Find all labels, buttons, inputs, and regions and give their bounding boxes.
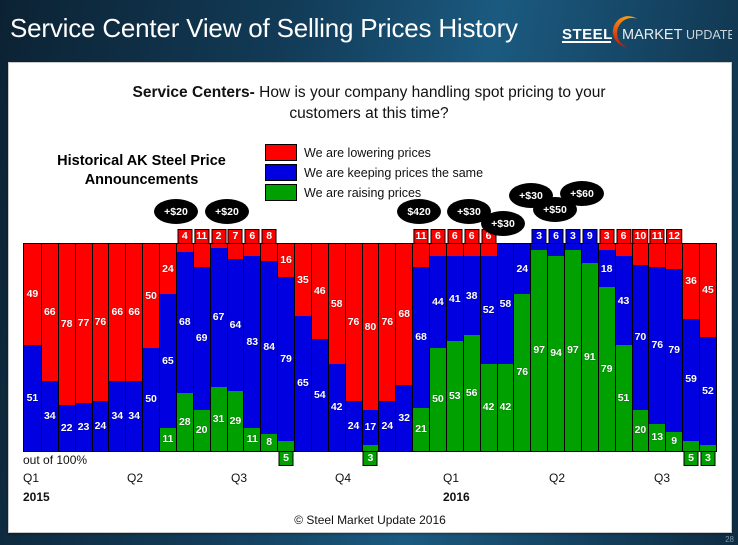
chart-bar: 4951 xyxy=(24,244,41,451)
bar-segment-lowering: 76 xyxy=(93,244,109,401)
segment-value: 11 xyxy=(247,434,258,445)
legend-swatch xyxy=(265,184,297,201)
bar-segment-raising: 79 xyxy=(599,287,615,451)
bar-segment-raising: 9 xyxy=(666,432,682,451)
bar-segment-lowering: 45 xyxy=(700,244,716,337)
bar-segment-lowering: 24 xyxy=(160,244,176,294)
segment-value: 24 xyxy=(95,421,107,432)
bar-segment-lowering: 36 xyxy=(683,244,699,319)
question-rest: How is your company handling spot pricin… xyxy=(255,84,606,122)
segment-value: 42 xyxy=(331,402,343,413)
bar-segment-raising: 5 xyxy=(683,441,699,451)
bar-segment-same: 79 xyxy=(666,269,682,433)
legend-label: We are lowering prices xyxy=(304,146,431,160)
bar-segment-raising: 91 xyxy=(582,263,598,451)
segment-value: 84 xyxy=(263,342,275,353)
chart-bar: 6634 xyxy=(125,244,142,451)
segment-value: 76 xyxy=(348,317,360,328)
bar-segment-same: 58 xyxy=(498,244,514,364)
bar-segment-same: 24 xyxy=(346,401,362,451)
bar-segment-lowering: 50 xyxy=(143,244,159,348)
segment-value-callout: 12 xyxy=(666,229,682,244)
question-lead: Service Centers- xyxy=(133,84,255,101)
bar-segment-raising: 42 xyxy=(481,364,497,451)
bar-segment-same: 59 xyxy=(683,319,699,441)
bar-segment-lowering: 11 xyxy=(413,244,429,267)
chart-bar: 64351 xyxy=(615,244,632,451)
chart-bar: 6634 xyxy=(41,244,58,451)
segment-value: 32 xyxy=(398,413,410,424)
bar-segment-same: 9 xyxy=(582,244,598,263)
segment-value: 51 xyxy=(27,393,39,404)
segment-value-callout: 7 xyxy=(228,229,243,244)
segment-value: 67 xyxy=(213,312,225,323)
chart-bar: 7822 xyxy=(58,244,75,451)
segment-value: 44 xyxy=(432,297,444,308)
axis-quarter-label: Q2 xyxy=(549,471,565,485)
segment-value: 54 xyxy=(314,390,326,401)
chart-bar: 64450 xyxy=(429,244,446,451)
bar-segment-lowering: 7 xyxy=(228,244,244,258)
segment-value-callout: 6 xyxy=(616,229,631,244)
legend-swatch xyxy=(265,144,297,161)
bar-segment-same: 34 xyxy=(42,381,58,451)
svg-text:UPDATE: UPDATE xyxy=(686,28,732,42)
bar-segment-same: 24 xyxy=(514,244,530,294)
bar-segment-same: 79 xyxy=(278,277,294,441)
bar-segment-same: 24 xyxy=(93,401,109,451)
steel-market-update-logo: STEEL MARKET UPDATE xyxy=(560,14,732,52)
segment-value: 66 xyxy=(128,307,140,318)
segment-value: 64 xyxy=(230,320,242,331)
bar-segment-same: 42 xyxy=(329,364,345,451)
legend-swatch xyxy=(265,164,297,181)
chart-bar: 397 xyxy=(530,244,547,451)
segment-value-callout: 5 xyxy=(684,451,699,466)
bar-segment-same: 51 xyxy=(24,345,41,451)
segment-value: 51 xyxy=(618,393,630,404)
chart-bar: 246511 xyxy=(159,244,176,451)
segment-value: 83 xyxy=(246,337,258,348)
slide-header: Service Center View of Selling Prices Hi… xyxy=(0,0,738,62)
bar-segment-lowering: 68 xyxy=(396,244,412,385)
segment-value: 69 xyxy=(196,333,208,344)
bar-segment-same: 83 xyxy=(244,256,260,428)
segment-value: 52 xyxy=(702,386,714,397)
segment-value-callout: 3 xyxy=(532,229,547,244)
bar-segment-lowering: 6 xyxy=(481,244,497,256)
segment-value: 38 xyxy=(466,291,478,302)
chart-bar: 2476 xyxy=(513,244,530,451)
segment-value: 45 xyxy=(702,285,714,296)
question-text: Service Centers- How is your company han… xyxy=(99,83,639,125)
svg-text:STEEL: STEEL xyxy=(562,26,613,43)
bar-segment-lowering: 4 xyxy=(177,244,193,252)
axis-quarter-label: Q1 xyxy=(23,471,39,485)
bar-segment-raising: 97 xyxy=(531,250,547,451)
chart-bar: 45523 xyxy=(699,244,716,451)
segment-value: 80 xyxy=(365,322,377,333)
axis-quarter-label: Q2 xyxy=(127,471,143,485)
bar-segment-raising: 3 xyxy=(700,445,716,451)
price-announcement-bubble: $420 xyxy=(397,199,441,224)
slide-canvas: Service Centers- How is your company han… xyxy=(8,62,732,533)
bar-segment-lowering: 66 xyxy=(42,244,58,381)
chart-bar: 694 xyxy=(547,244,564,451)
segment-value: 34 xyxy=(111,411,123,422)
stacked-bar-chart: 4951663478227723762466346634505024651146… xyxy=(23,243,717,452)
segment-value: 24 xyxy=(348,421,360,432)
chart-bar: 16795 xyxy=(277,244,294,451)
segment-value: 78 xyxy=(61,319,73,330)
segment-value: 42 xyxy=(500,402,512,413)
chart-legend: We are lowering pricesWe are keeping pri… xyxy=(265,144,483,204)
bar-segment-same: 54 xyxy=(312,339,328,451)
bar-segment-same: 65 xyxy=(295,316,311,451)
legend-label: We are raising prices xyxy=(304,186,421,200)
bar-segment-raising: 11 xyxy=(244,428,260,451)
bar-segment-same: 34 xyxy=(109,381,125,451)
segment-value-callout: 3 xyxy=(363,451,378,466)
bar-segment-raising: 28 xyxy=(177,393,193,451)
bar-segment-same: 43 xyxy=(616,256,632,345)
bar-segment-same: 32 xyxy=(396,385,412,451)
axis-year-label: 2015 xyxy=(23,490,50,504)
price-announcement-bubble: +$60 xyxy=(560,181,604,206)
bar-segment-lowering: 10 xyxy=(633,244,649,265)
segment-value: 68 xyxy=(415,332,427,343)
segment-value-callout: 9 xyxy=(582,229,597,244)
chart-bar: 7723 xyxy=(75,244,92,451)
bar-segment-same: 24 xyxy=(379,401,395,451)
bar-segment-same: 64 xyxy=(228,259,244,391)
legend-label: We are keeping prices the same xyxy=(304,166,483,180)
bar-segment-lowering: 16 xyxy=(278,244,294,277)
segment-value: 97 xyxy=(533,345,545,356)
segment-value: 21 xyxy=(415,424,427,435)
chart-bar: 63856 xyxy=(463,244,480,451)
segment-value: 52 xyxy=(483,305,495,316)
chart-bar: 7624 xyxy=(92,244,109,451)
chart-bar: 107020 xyxy=(632,244,649,451)
segment-value: 20 xyxy=(635,425,647,436)
chart-bar: 64153 xyxy=(446,244,463,451)
bar-segment-lowering: 11 xyxy=(194,244,210,267)
segment-value: 16 xyxy=(280,255,292,266)
bar-segment-raising: 8 xyxy=(261,434,277,451)
segment-value: 53 xyxy=(449,391,461,402)
page-number: 28 xyxy=(725,535,734,544)
axis-quarter-label: Q3 xyxy=(231,471,247,485)
bar-segment-lowering: 77 xyxy=(76,244,92,403)
bar-segment-same: 38 xyxy=(464,256,480,335)
chart-bar: 991 xyxy=(581,244,598,451)
segment-value: 50 xyxy=(145,291,157,302)
bar-segment-raising: 20 xyxy=(194,410,210,451)
segment-value-callout: 11 xyxy=(194,229,209,244)
segment-value: 76 xyxy=(516,367,528,378)
price-announcement-bubble: +$30 xyxy=(481,211,525,236)
out-of-100-label: out of 100% xyxy=(23,453,87,467)
bar-segment-same: 6 xyxy=(548,244,564,256)
chart-bar: 4654 xyxy=(311,244,328,451)
bar-segment-raising: 21 xyxy=(413,408,429,451)
segment-value: 35 xyxy=(297,275,309,286)
bar-segment-same: 23 xyxy=(76,403,92,451)
segment-value-callout: 6 xyxy=(447,229,462,244)
segment-value: 79 xyxy=(280,354,292,365)
chart-bar: 7624 xyxy=(378,244,395,451)
segment-value: 70 xyxy=(635,332,647,343)
segment-value: 97 xyxy=(567,345,579,356)
chart-bar: 12799 xyxy=(665,244,682,451)
bar-segment-lowering: 46 xyxy=(312,244,328,339)
chart-bar: 116821 xyxy=(412,244,429,451)
chart-bar: 7624 xyxy=(345,244,362,451)
segment-value: 24 xyxy=(516,264,528,275)
segment-value: 68 xyxy=(398,309,410,320)
segment-value-callout: 8 xyxy=(262,229,277,244)
bar-segment-lowering: 58 xyxy=(329,244,345,364)
segment-value: 65 xyxy=(162,356,174,367)
axis-quarter-label: Q4 xyxy=(335,471,351,485)
chart-bar: 117613 xyxy=(648,244,665,451)
segment-value: 79 xyxy=(668,345,680,356)
segment-value: 42 xyxy=(483,402,495,413)
chart-bar: 397 xyxy=(564,244,581,451)
bar-segment-same: 76 xyxy=(649,267,665,424)
bar-segment-same: 67 xyxy=(211,248,227,387)
logo-svg: STEEL MARKET UPDATE xyxy=(560,14,732,52)
segment-value: 77 xyxy=(78,318,90,329)
segment-value: 58 xyxy=(500,299,512,310)
chart-bar: 5050 xyxy=(142,244,159,451)
bar-segment-raising: 11 xyxy=(160,428,176,451)
page-title: Service Center View of Selling Prices Hi… xyxy=(10,13,518,44)
bar-segment-lowering: 6 xyxy=(430,244,446,256)
bar-segment-raising: 3 xyxy=(363,445,379,451)
segment-value-callout: 6 xyxy=(245,229,260,244)
chart-bar: 116920 xyxy=(193,244,210,451)
bar-segment-same: 70 xyxy=(633,265,649,410)
segment-value: 94 xyxy=(550,348,562,359)
segment-value: 65 xyxy=(297,378,309,389)
chart-bar: 26731 xyxy=(210,244,227,451)
legend-item: We are lowering prices xyxy=(265,144,483,161)
bar-segment-raising: 29 xyxy=(228,391,244,451)
chart-bar: 6634 xyxy=(108,244,125,451)
segment-value: 34 xyxy=(128,411,140,422)
segment-value: 24 xyxy=(162,264,174,275)
segment-value-callout: 6 xyxy=(549,229,564,244)
bar-segment-lowering: 6 xyxy=(464,244,480,256)
historical-announcements-note: Historical AK Steel Price Announcements xyxy=(49,152,234,190)
segment-value: 50 xyxy=(145,394,157,405)
segment-value: 79 xyxy=(601,364,613,375)
segment-value: 34 xyxy=(44,411,56,422)
bar-segment-lowering: 66 xyxy=(109,244,125,381)
bar-segment-same: 44 xyxy=(430,256,446,347)
legend-item: We are raising prices xyxy=(265,184,483,201)
slide-root: Service Center View of Selling Prices Hi… xyxy=(0,0,738,545)
segment-value-callout: 5 xyxy=(279,451,294,466)
bar-segment-same: 17 xyxy=(363,410,379,445)
segment-value-callout: 6 xyxy=(464,229,479,244)
bar-segment-lowering: 76 xyxy=(346,244,362,401)
segment-value-callout: 6 xyxy=(430,229,445,244)
segment-value: 43 xyxy=(618,296,630,307)
bar-segment-raising: 56 xyxy=(464,335,480,451)
segment-value: 46 xyxy=(314,286,326,297)
segment-value-callout: 11 xyxy=(414,229,429,244)
bar-segment-raising: 13 xyxy=(649,424,665,451)
price-announcement-bubble: +$20 xyxy=(154,199,198,224)
bar-segment-lowering: 66 xyxy=(126,244,142,381)
chart-bar: 5842 xyxy=(328,244,345,451)
bar-segment-same: 18 xyxy=(599,250,615,287)
segment-value: 76 xyxy=(651,340,663,351)
bar-segment-raising: 42 xyxy=(498,364,514,451)
segment-value: 50 xyxy=(432,394,444,405)
chart-bar: 31879 xyxy=(598,244,615,451)
segment-value-callout: 2 xyxy=(211,229,226,244)
bar-segment-lowering: 76 xyxy=(379,244,395,401)
bar-segment-same: 41 xyxy=(447,256,463,341)
axis-quarter-label: Q3 xyxy=(654,471,670,485)
bar-segment-raising: 51 xyxy=(616,345,632,451)
segment-value: 66 xyxy=(44,307,56,318)
bar-segment-lowering: 6 xyxy=(244,244,260,256)
bar-segment-raising: 76 xyxy=(514,294,530,451)
segment-value: 76 xyxy=(381,317,393,328)
bar-segment-lowering: 35 xyxy=(295,244,311,316)
bar-segment-raising: 50 xyxy=(430,348,446,452)
segment-value: 9 xyxy=(671,436,677,447)
bar-segment-same: 84 xyxy=(261,261,277,435)
segment-value-callout: 3 xyxy=(700,451,715,466)
bar-segment-raising: 20 xyxy=(633,410,649,451)
segment-value-callout: 4 xyxy=(177,229,192,244)
segment-value-callout: 3 xyxy=(565,229,580,244)
segment-value: 68 xyxy=(179,317,191,328)
segment-value: 31 xyxy=(213,414,225,425)
legend-item: We are keeping prices the same xyxy=(265,164,483,181)
segment-value: 49 xyxy=(27,289,39,300)
segment-value: 66 xyxy=(111,307,123,318)
chart-bar: 3565 xyxy=(294,244,311,451)
bar-segment-raising: 31 xyxy=(211,387,227,451)
segment-value: 22 xyxy=(61,423,73,434)
bar-segment-same: 69 xyxy=(194,267,210,410)
chart-bar: 46828 xyxy=(176,244,193,451)
segment-value-callout: 11 xyxy=(650,229,665,244)
segment-value: 76 xyxy=(95,317,107,328)
chart-bar: 36595 xyxy=(682,244,699,451)
bar-segment-lowering: 6 xyxy=(616,244,632,256)
bar-segment-same: 50 xyxy=(143,348,159,452)
segment-value: 59 xyxy=(685,374,697,385)
bar-segment-lowering: 12 xyxy=(666,244,682,269)
segment-value: 24 xyxy=(381,421,393,432)
bar-segment-same: 65 xyxy=(160,294,176,429)
segment-value: 23 xyxy=(78,422,90,433)
segment-value: 36 xyxy=(685,276,697,287)
bar-segment-lowering: 78 xyxy=(59,244,75,405)
segment-value: 41 xyxy=(449,294,461,305)
copyright-text: © Steel Market Update 2016 xyxy=(9,513,731,527)
chart-bar: 8848 xyxy=(260,244,277,451)
bar-segment-lowering: 6 xyxy=(447,244,463,256)
axis-year-label: 2016 xyxy=(443,490,470,504)
svg-text:MARKET: MARKET xyxy=(622,27,683,43)
segment-value-callout: 10 xyxy=(633,229,649,244)
segment-value: 17 xyxy=(365,422,377,433)
bar-segment-raising: 5 xyxy=(278,441,294,451)
segment-value: 58 xyxy=(331,299,343,310)
bar-segment-raising: 94 xyxy=(548,256,564,451)
bar-segment-lowering: 80 xyxy=(363,244,379,410)
price-announcement-bubble: +$20 xyxy=(205,199,249,224)
axis-quarter-label: Q1 xyxy=(443,471,459,485)
segment-value: 8 xyxy=(266,437,272,448)
bar-segment-same: 52 xyxy=(481,256,497,364)
segment-value-callout: 3 xyxy=(599,229,614,244)
segment-value: 29 xyxy=(230,416,242,427)
chart-bar: 80173 xyxy=(362,244,379,451)
segment-value: 91 xyxy=(584,352,596,363)
segment-value: 11 xyxy=(162,434,173,445)
bar-segment-same: 22 xyxy=(59,405,75,451)
chart-bar: 6832 xyxy=(395,244,412,451)
chart-bar: 5842 xyxy=(497,244,514,451)
bar-segment-same: 52 xyxy=(700,337,716,445)
bar-segment-raising: 53 xyxy=(447,341,463,451)
bar-segment-same: 34 xyxy=(126,381,142,451)
chart-bar: 76429 xyxy=(227,244,244,451)
bar-segment-lowering: 11 xyxy=(649,244,665,267)
segment-value: 28 xyxy=(179,417,191,428)
segment-value: 56 xyxy=(466,388,478,399)
chart-bar: 68311 xyxy=(243,244,260,451)
bar-segment-same: 68 xyxy=(413,267,429,408)
bar-segment-lowering: 8 xyxy=(261,244,277,261)
segment-value: 20 xyxy=(196,425,208,436)
chart-bar: 65242 xyxy=(480,244,497,451)
bar-segment-same: 68 xyxy=(177,252,193,393)
segment-value: 18 xyxy=(601,264,613,275)
segment-value: 13 xyxy=(651,432,663,443)
bar-segment-raising: 97 xyxy=(565,250,581,451)
bar-segment-lowering: 49 xyxy=(24,244,41,345)
